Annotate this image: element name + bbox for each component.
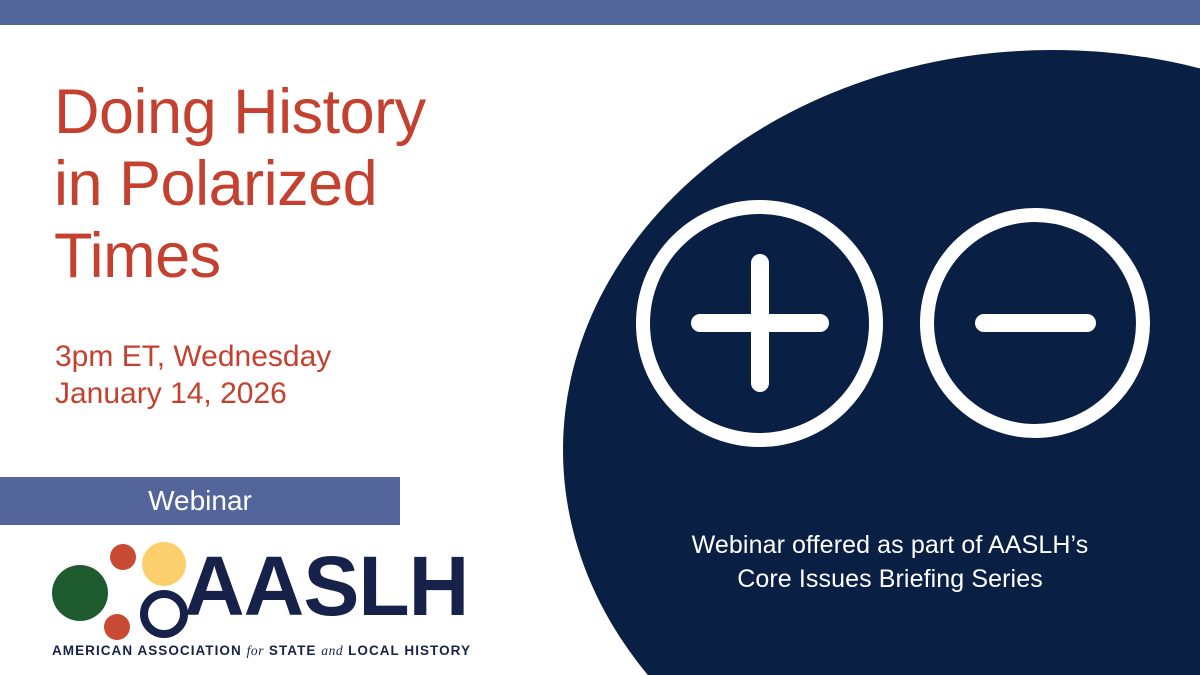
plus-vertical-stroke [751,254,769,392]
series-caption-line-1: Webinar offered as part of AASLH’s [692,531,1089,559]
page-title-line-3: Times [54,220,534,292]
event-datetime: 3pm ET, Wednesday January 14, 2026 [55,338,515,412]
series-caption: Webinar offered as part of AASLH’s Core … [640,528,1140,596]
aaslh-tagline: AMERICAN ASSOCIATION for STATE and LOCAL… [52,642,497,660]
tagline-for: for [247,643,265,658]
page-title: Doing History in Polarized Times [54,76,534,292]
event-date: January 14, 2026 [55,375,515,412]
event-time: 3pm ET, Wednesday [55,338,515,375]
green-dot-icon [52,565,108,621]
top-accent-bar [0,0,1200,25]
page-title-line-2: in Polarized [54,148,534,220]
red-dot-top-icon [110,544,136,570]
red-dot-bottom-icon [104,614,130,640]
aaslh-logo: AASLH AMERICAN ASSOCIATION for STATE and… [42,540,492,660]
aaslh-logo-mark [42,540,177,640]
tagline-and: and [321,643,343,658]
tagline-part-2: STATE [264,643,321,658]
aaslh-wordmark: AASLH [184,542,468,630]
yellow-dot-icon [142,542,186,586]
page-title-line-1: Doing History [54,76,534,148]
series-caption-line-2: Core Issues Briefing Series [737,565,1043,593]
tagline-part-1: AMERICAN ASSOCIATION [52,643,247,658]
navy-ring-icon [140,590,188,638]
minus-horizontal-stroke [975,314,1096,332]
webinar-badge: Webinar [0,477,400,525]
tagline-part-3: LOCAL HISTORY [343,643,471,658]
webinar-promo-graphic: Webinar offered as part of AASLH’s Core … [0,0,1200,675]
